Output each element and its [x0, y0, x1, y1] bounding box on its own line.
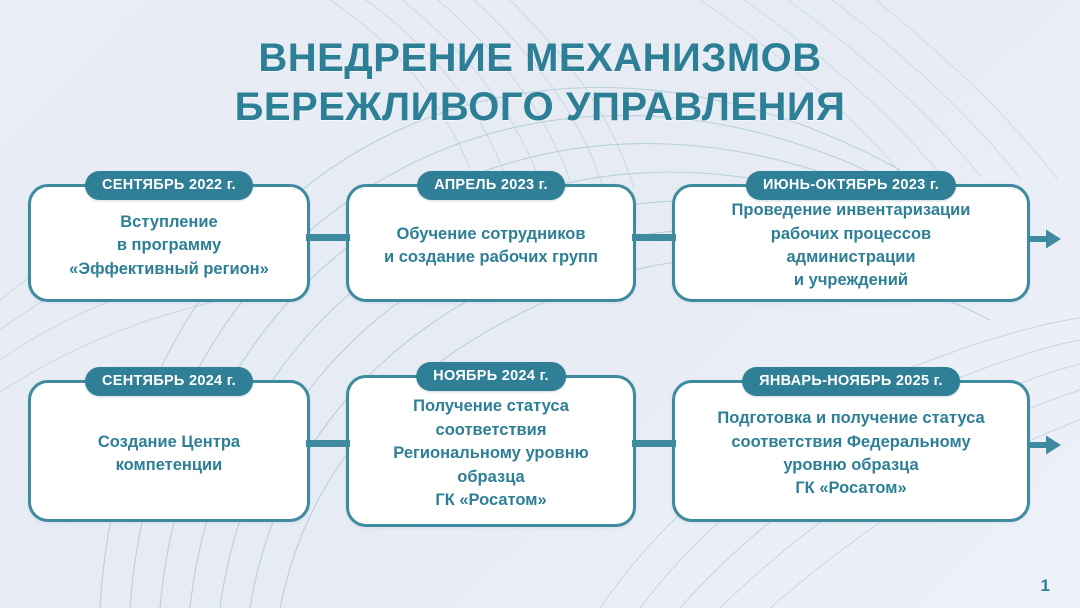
- connector-row2-card1-card2: [306, 440, 350, 447]
- slide-title: ВНЕДРЕНИЕ МЕХАНИЗМОВ БЕРЕЖЛИВОГО УПРАВЛЕ…: [0, 34, 1080, 132]
- timeline-card-2-badge: АПРЕЛЬ 2023 г.: [417, 171, 565, 200]
- title-line-1: ВНЕДРЕНИЕ МЕХАНИЗМОВ: [0, 34, 1080, 83]
- slide-canvas: ВНЕДРЕНИЕ МЕХАНИЗМОВ БЕРЕЖЛИВОГО УПРАВЛЕ…: [0, 0, 1080, 608]
- timeline-card-1-badge: СЕНТЯБРЬ 2022 г.: [85, 171, 253, 200]
- row2-flow-arrow-icon: [1028, 434, 1062, 456]
- timeline-card-6[interactable]: ЯНВАРЬ-НОЯБРЬ 2025 г. Подготовка и получ…: [672, 380, 1030, 522]
- timeline-card-3-body: Проведение инвентаризации рабочих процес…: [716, 185, 987, 301]
- connector-row2-card2-card3: [632, 440, 676, 447]
- timeline-card-5[interactable]: НОЯБРЬ 2024 г. Получение статуса соответ…: [346, 375, 636, 527]
- timeline-card-4-badge: СЕНТЯБРЬ 2024 г.: [85, 367, 253, 396]
- timeline-card-1[interactable]: СЕНТЯБРЬ 2022 г. Вступление в программу …: [28, 184, 310, 302]
- timeline-card-5-badge: НОЯБРЬ 2024 г.: [416, 362, 566, 391]
- page-number: 1: [1041, 576, 1050, 596]
- connector-row1-card1-card2: [306, 234, 350, 241]
- timeline-card-2-body: Обучение сотрудников и создание рабочих …: [368, 209, 614, 278]
- timeline-card-3-badge: ИЮНЬ-ОКТЯБРЬ 2023 г.: [746, 171, 956, 200]
- timeline-card-1-body: Вступление в программу «Эффективный реги…: [53, 197, 285, 289]
- timeline-card-4[interactable]: СЕНТЯБРЬ 2024 г. Создание Центра компете…: [28, 380, 310, 522]
- timeline-card-6-badge: ЯНВАРЬ-НОЯБРЬ 2025 г.: [742, 367, 960, 396]
- connector-row1-card2-card3: [632, 234, 676, 241]
- timeline-card-5-body: Получение статуса соответствия Региональ…: [377, 381, 605, 520]
- title-line-2: БЕРЕЖЛИВОГО УПРАВЛЕНИЯ: [0, 83, 1080, 132]
- timeline-card-3[interactable]: ИЮНЬ-ОКТЯБРЬ 2023 г. Проведение инвентар…: [672, 184, 1030, 302]
- timeline-card-4-body: Создание Центра компетенции: [82, 417, 256, 486]
- row1-flow-arrow-icon: [1028, 228, 1062, 250]
- timeline-card-6-body: Подготовка и получение статуса соответст…: [701, 393, 1000, 509]
- timeline-card-2[interactable]: АПРЕЛЬ 2023 г. Обучение сотрудников и со…: [346, 184, 636, 302]
